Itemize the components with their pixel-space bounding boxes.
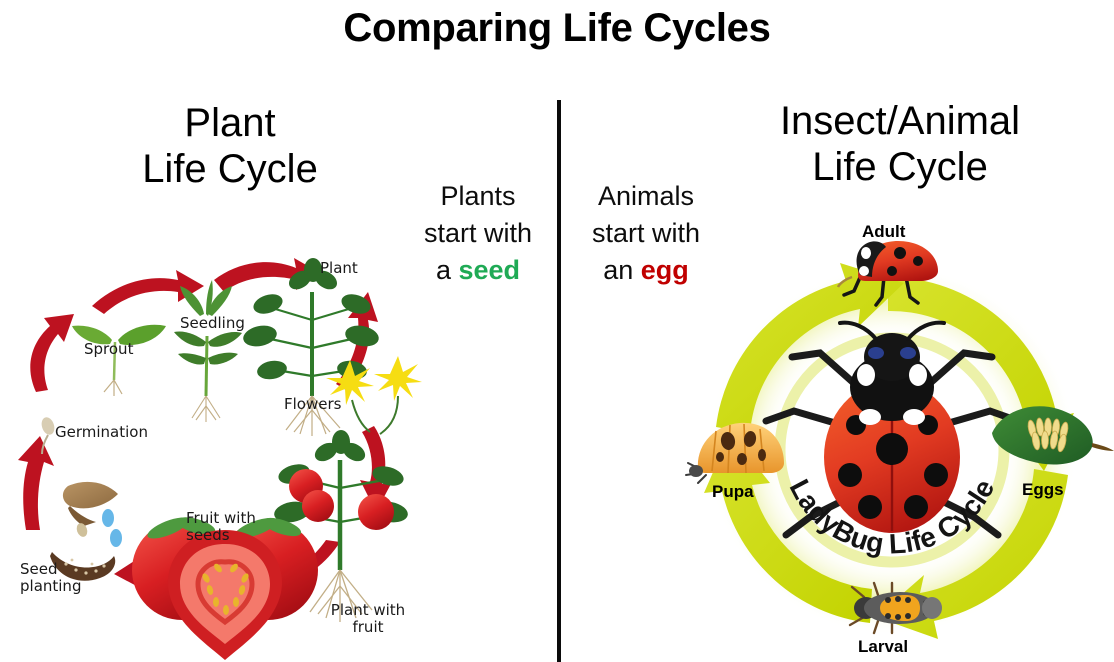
ladybug-cycle-artwork: LadyBug Life Cycle	[670, 235, 1114, 662]
insect-label-larval: Larval	[858, 637, 908, 657]
insect-section-heading: Insect/Animal Life Cycle	[700, 98, 1100, 190]
page-title: Comparing Life Cycles	[0, 6, 1114, 51]
germination-icon	[40, 416, 57, 454]
plant-label-flowers: Flowers	[284, 396, 341, 413]
plants-note-line1: Plants	[398, 178, 558, 215]
tomato-fruit	[302, 490, 334, 522]
sprout-icon	[72, 325, 166, 396]
animals-note-line1: Animals	[566, 178, 726, 215]
insect-label-eggs: Eggs	[1022, 480, 1064, 500]
insect-label-pupa: Pupa	[712, 482, 754, 502]
tomato-fruit	[358, 494, 394, 530]
plant-label-fruit-with-seeds: Fruit with seeds	[186, 510, 256, 544]
plant-label-sprout: Sprout	[84, 341, 133, 358]
plant-label-seedling: Seedling	[180, 315, 245, 332]
seedling-icon	[174, 280, 242, 422]
plant-label-seed-planting: Seed planting	[20, 561, 81, 595]
plant-label-plant-with-fruit: Plant with fruit	[322, 602, 414, 636]
life-cycle-poster: Comparing Life Cycles Plant Life Cycle P…	[0, 0, 1114, 662]
plant-label-plant: Plant	[320, 260, 358, 277]
animals-note-prefix: an	[603, 255, 641, 285]
plant-section-heading: Plant Life Cycle	[70, 100, 390, 192]
plant-label-germination: Germination	[55, 424, 148, 441]
plant-cycle-artwork	[0, 230, 560, 662]
insect-label-adult: Adult	[862, 222, 905, 242]
